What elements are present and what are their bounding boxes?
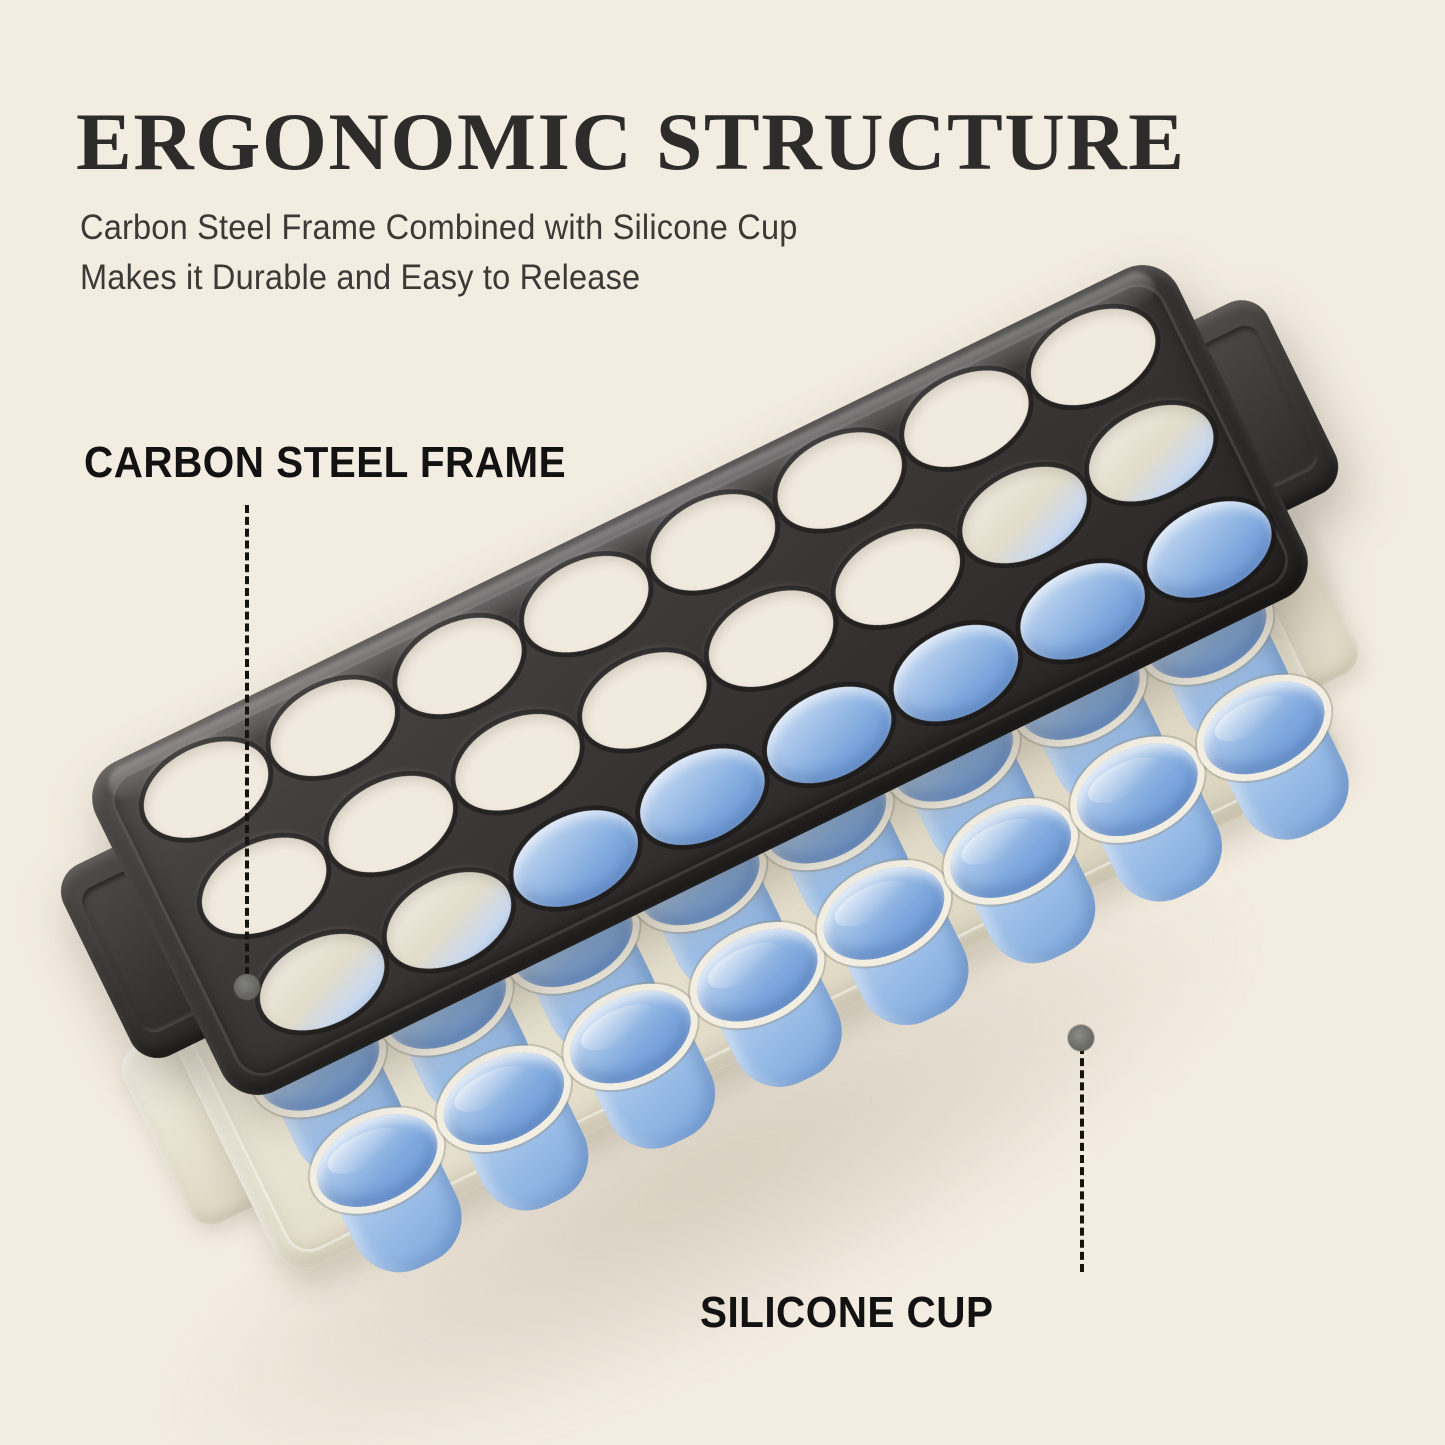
subtitle-line-2: Makes it Durable and Easy to Release (80, 258, 640, 298)
callout-dot-silicone-cup (1068, 1025, 1094, 1051)
callout-leader-carbon-steel-frame (245, 505, 249, 987)
callout-label-silicone-cup: SILICONE CUP (700, 1288, 993, 1338)
subtitle-line-1: Carbon Steel Frame Combined with Silicon… (80, 208, 798, 248)
callout-label-carbon-steel-frame: CARBON STEEL FRAME (84, 438, 566, 488)
infographic-canvas: ERGONOMIC STRUCTURE Carbon Steel Frame C… (0, 0, 1445, 1445)
callout-dot-carbon-steel-frame (234, 974, 260, 1000)
page-title: ERGONOMIC STRUCTURE (76, 95, 1186, 189)
callout-leader-silicone-cup (1080, 1046, 1084, 1272)
